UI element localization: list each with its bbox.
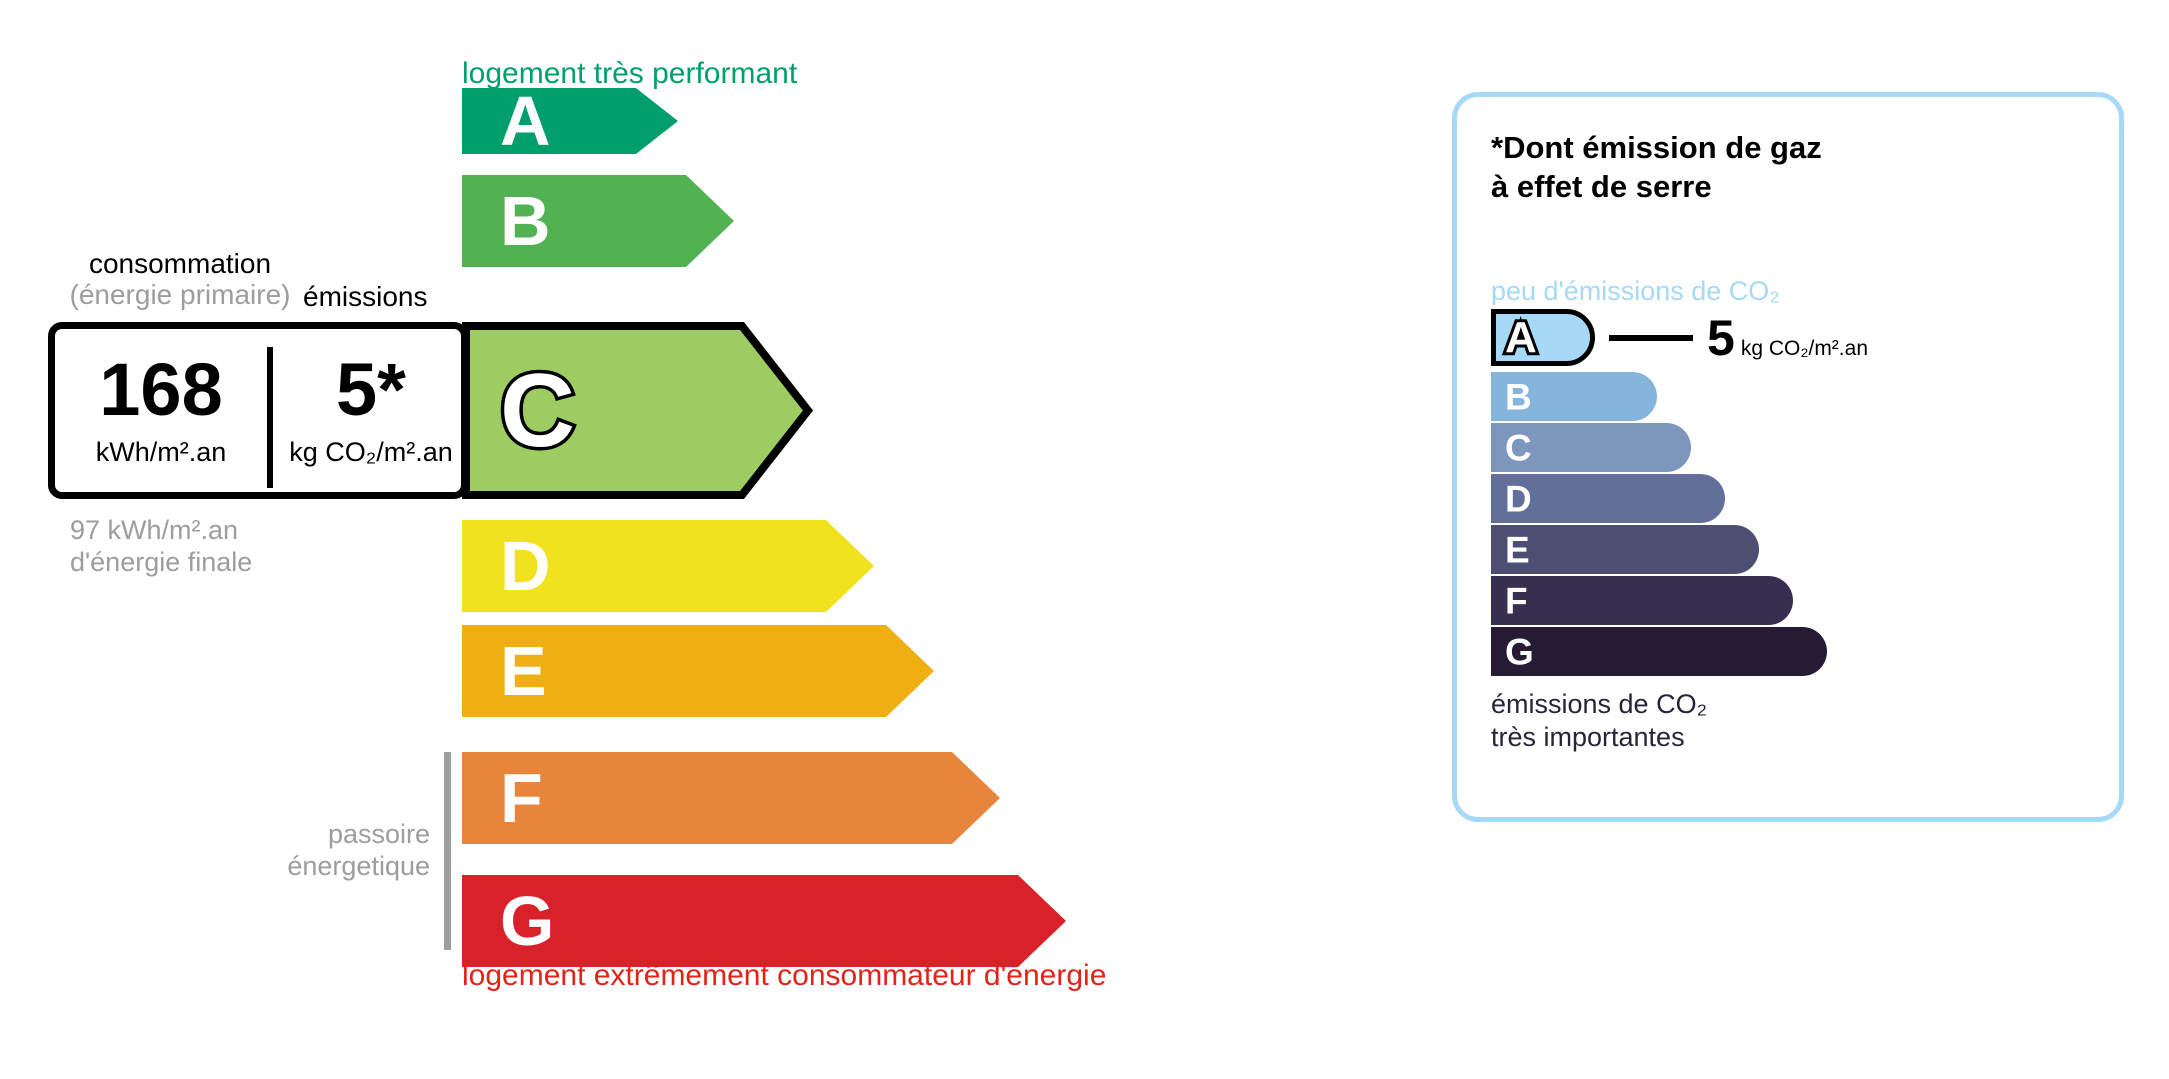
co2-letter-d: D [1505,480,1532,517]
primary-energy-label: (énergie primaire) [60,279,300,310]
co2-row-g: G [1491,627,2091,676]
final-energy-value: 97 kWh/m².an [70,514,252,546]
consumption-label-group: consommation (énergie primaire) [60,248,300,311]
consumption-label: consommation [89,248,271,279]
energy-band-c: C [462,322,812,499]
co2-letter-c: C [1505,429,1532,466]
emissions-cell: 5* kg CO₂/m².an [273,329,469,492]
energy-band-letter-e: E [500,636,547,706]
energy-band-e: E [462,625,934,717]
co2-bar-e [1491,525,1759,574]
emissions-label: émissions [303,281,427,313]
co2-caption-bottom-line2: très importantes [1491,721,1707,754]
co2-selected-value: 5 [1707,310,1735,366]
primary-energy-cell: 168 kWh/m².an [55,329,267,492]
energy-band-b: B [462,175,734,267]
passoire-label-line1: passoire [230,818,430,850]
energy-band-f: F [462,752,1000,844]
dpe-energy-label: logement très performant ABCDEFG 168 kWh… [0,0,2169,1079]
energy-band-letter-b: B [500,186,551,256]
co2-row-a: A5kg CO₂/m².an [1491,309,2091,366]
energy-band-letter-a: A [500,86,551,156]
scale-caption-bottom: logement extrêmement consommateur d'éner… [462,959,1106,993]
co2-caption-bottom: émissions de CO₂ très importantes [1491,688,1707,754]
energy-band-shape-a [462,88,678,154]
final-energy-caption: d'énergie finale [70,546,252,578]
co2-title-line1: *Dont émission de gaz [1491,129,1822,168]
co2-bar-g [1491,627,1827,676]
co2-selected-value-group: 5kg CO₂/m².an [1707,309,1868,367]
primary-energy-unit: kWh/m².an [96,437,227,468]
passoire-bracket [444,752,451,950]
co2-panel-title: *Dont émission de gaz à effet de serre [1491,129,1822,207]
co2-caption-top: peu d'émissions de CO₂ [1491,276,1780,307]
energy-band-a: A [462,88,678,154]
passoire-label-line2: énergetique [230,850,430,882]
greenhouse-gas-panel: *Dont émission de gaz à effet de serre p… [1452,92,2124,822]
energy-band-g: G [462,875,1066,967]
energy-performance-scale: logement très performant ABCDEFG 168 kWh… [0,0,1340,1079]
co2-letter-a: A [1505,316,1537,360]
co2-row-b: B [1491,372,2091,421]
energy-band-d: D [462,520,874,612]
co2-letter-e: E [1505,531,1530,568]
co2-selected-unit: kg CO₂/m².an [1741,337,1868,360]
energy-band-letter-f: F [500,763,543,833]
energy-band-letter-g: G [500,886,554,956]
final-energy-note: 97 kWh/m².an d'énergie finale [70,514,252,579]
co2-title-line2: à effet de serre [1491,168,1822,207]
energy-band-letter-d: D [500,531,551,601]
consumption-readout-box: 168 kWh/m².an 5* kg CO₂/m².an [48,322,468,499]
co2-letter-g: G [1505,633,1534,670]
emissions-unit: kg CO₂/m².an [289,437,453,468]
co2-row-list: A5kg CO₂/m².anBCDEFG [1491,309,2091,678]
co2-letter-b: B [1505,378,1532,415]
co2-row-c: C [1491,423,2091,472]
co2-bar-f [1491,576,1793,625]
co2-letter-f: F [1505,582,1528,619]
primary-energy-value: 168 [99,353,222,427]
co2-row-d: D [1491,474,2091,523]
emissions-value: 5* [336,353,406,427]
co2-caption-bottom-line1: émissions de CO₂ [1491,688,1707,721]
co2-row-f: F [1491,576,2091,625]
co2-row-e: E [1491,525,2091,574]
passoire-label: passoire énergetique [230,818,430,883]
co2-leader-line [1609,335,1693,341]
energy-band-letter-c: C [500,359,575,463]
